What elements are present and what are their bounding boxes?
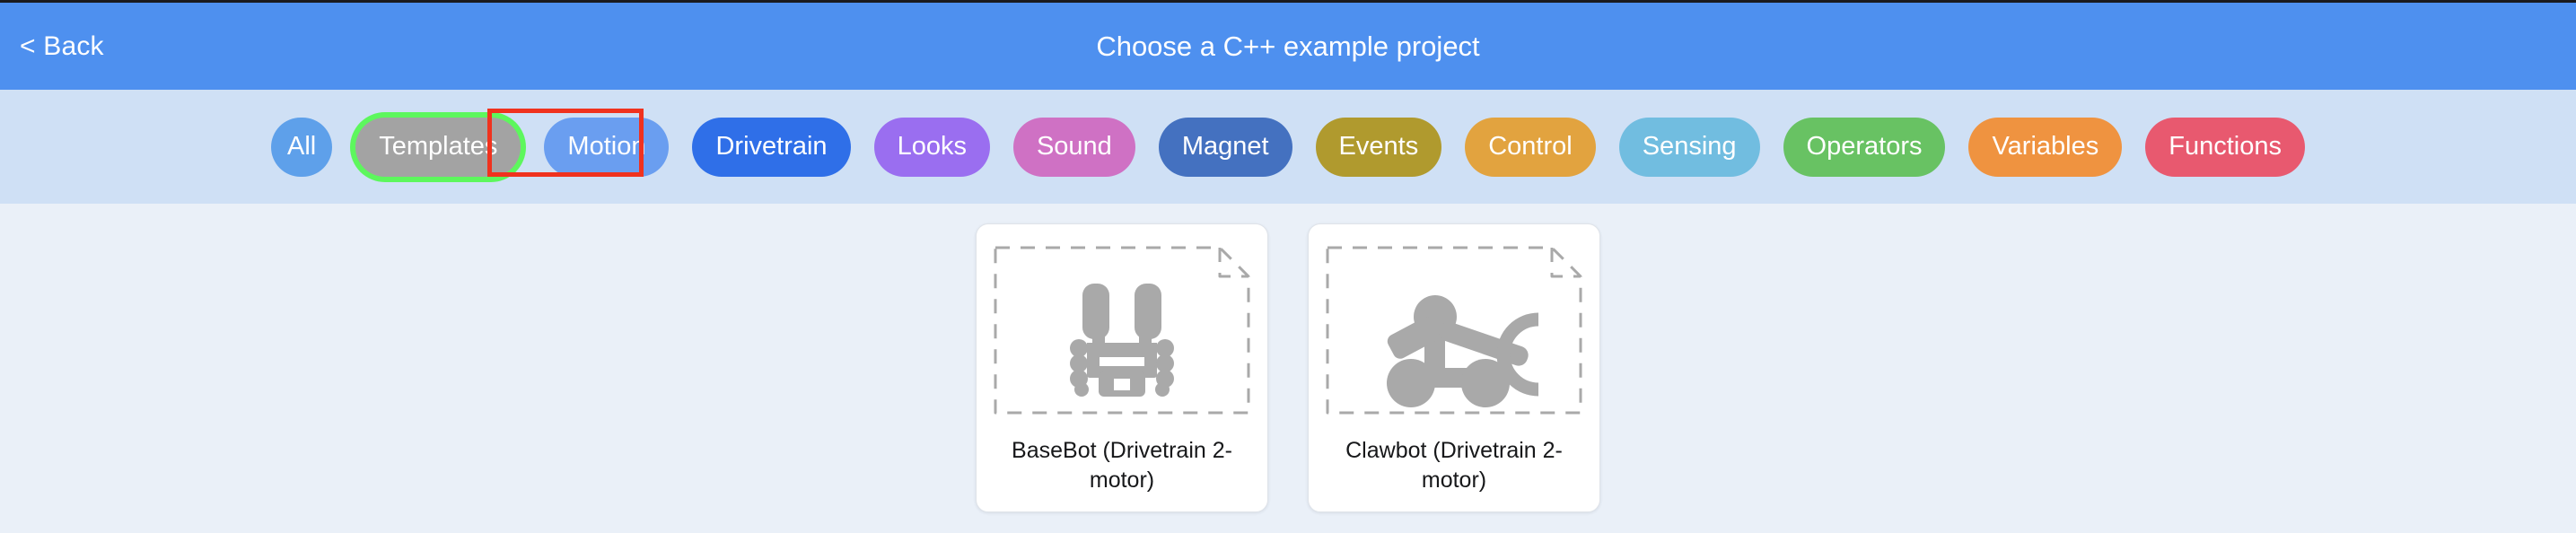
category-pill-sensing[interactable]: Sensing bbox=[1619, 118, 1760, 177]
category-pill-looks[interactable]: Looks bbox=[874, 118, 990, 177]
category-pill-row: AllTemplatesMotionDrivetrainLooksSoundMa… bbox=[0, 118, 2576, 177]
category-pill-templates[interactable]: Templates bbox=[355, 118, 521, 177]
category-pill-drivetrain[interactable]: Drivetrain bbox=[692, 118, 850, 177]
category-pill-magnet[interactable]: Magnet bbox=[1159, 118, 1292, 177]
project-list-area: BaseBot (Drivetrain 2-motor) Clawbot (Dr… bbox=[0, 204, 2576, 533]
category-pill-events[interactable]: Events bbox=[1316, 118, 1442, 177]
project-card-title: Clawbot (Drivetrain 2-motor) bbox=[1326, 436, 1582, 494]
project-card[interactable]: Clawbot (Drivetrain 2-motor) bbox=[1308, 223, 1600, 512]
project-thumbnail bbox=[988, 237, 1256, 424]
category-pill-variables[interactable]: Variables bbox=[1968, 118, 2122, 177]
category-pill-operators[interactable]: Operators bbox=[1783, 118, 1946, 177]
category-pill-control[interactable]: Control bbox=[1465, 118, 1596, 177]
project-card-grid: BaseBot (Drivetrain 2-motor) Clawbot (Dr… bbox=[0, 223, 2576, 512]
category-pill-functions[interactable]: Functions bbox=[2145, 118, 2305, 177]
project-card-title: BaseBot (Drivetrain 2-motor) bbox=[994, 436, 1250, 494]
project-card[interactable]: BaseBot (Drivetrain 2-motor) bbox=[976, 223, 1268, 512]
page-title: Choose a C++ example project bbox=[0, 31, 2576, 63]
category-pill-sound[interactable]: Sound bbox=[1013, 118, 1135, 177]
clawbot-robot-icon bbox=[1385, 295, 1538, 407]
page-header: < Back Choose a C++ example project bbox=[0, 3, 2576, 90]
example-project-chooser: < Back Choose a C++ example project AllT… bbox=[0, 0, 2576, 533]
basebot-robot-icon bbox=[1070, 284, 1174, 397]
category-pill-all[interactable]: All bbox=[271, 118, 332, 177]
category-pill-motion[interactable]: Motion bbox=[544, 118, 669, 177]
project-thumbnail bbox=[1320, 237, 1588, 424]
category-filter-bar: AllTemplatesMotionDrivetrainLooksSoundMa… bbox=[0, 90, 2576, 204]
